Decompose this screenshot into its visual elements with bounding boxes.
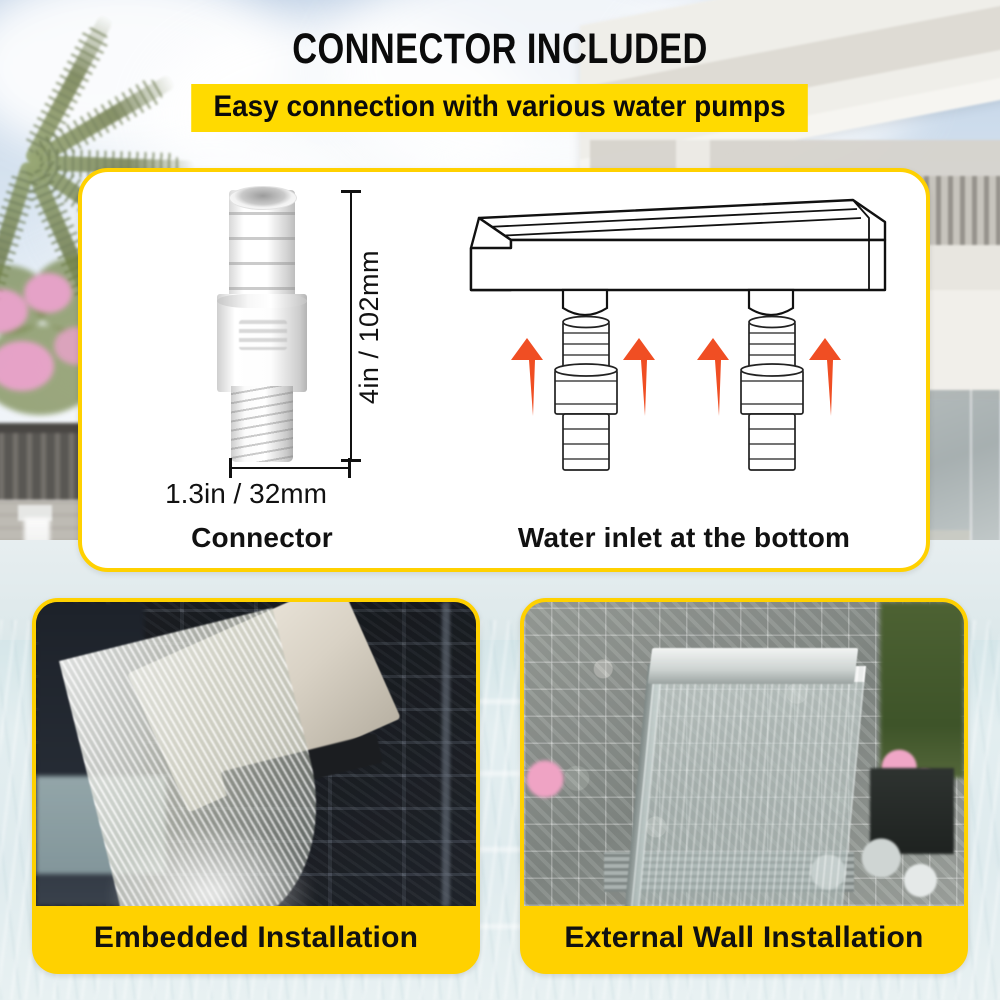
width-dimension-line	[229, 467, 351, 469]
height-dimension-label: 4in / 102mm	[354, 250, 385, 404]
embedded-installation-photo	[36, 602, 476, 906]
card-embedded-installation: Embedded Installation	[32, 598, 480, 974]
connector-right	[741, 317, 803, 471]
width-dimension-label: 1.3in / 32mm	[82, 478, 410, 510]
spillway-body	[471, 240, 885, 290]
connector-opening	[229, 186, 297, 210]
card-caption-external: External Wall Installation	[524, 906, 964, 970]
connector-diagram-section: 4in / 102mm 1.3in / 32mm Connector	[82, 172, 442, 568]
flow-arrow	[623, 338, 655, 416]
height-dimension-line	[350, 190, 352, 462]
flow-arrow	[697, 338, 729, 416]
feature-panel: 4in / 102mm 1.3in / 32mm Connector	[78, 168, 930, 572]
header: CONNECTOR INCLUDED Easy connection with …	[0, 0, 1000, 132]
installation-cards: Embedded Installation External Wall Inst…	[0, 598, 1000, 968]
page-title: CONNECTOR INCLUDED	[100, 28, 900, 71]
card-caption-embedded: Embedded Installation	[36, 906, 476, 970]
subtitle-banner: Easy connection with various water pumps	[192, 84, 809, 132]
threaded-end	[231, 386, 293, 462]
connector-illustration	[203, 190, 321, 462]
connector-caption: Connector	[82, 522, 442, 554]
flow-arrow	[511, 338, 543, 416]
flow-arrow	[809, 338, 841, 416]
molded-marking	[239, 320, 287, 350]
water-sheet	[630, 666, 866, 906]
height-dimension-label-wrap: 4in / 102mm	[354, 192, 385, 462]
water-inlet-caption: Water inlet at the bottom	[442, 522, 926, 554]
outlet-stub-right	[749, 290, 793, 315]
card-external-wall-installation: External Wall Installation	[520, 598, 968, 974]
spillway-blade	[648, 648, 858, 684]
water-inlet-diagram-section: Water inlet at the bottom	[442, 172, 926, 568]
connector-left	[555, 317, 617, 471]
spillway-line-art	[442, 178, 926, 478]
collar-lip	[217, 294, 307, 308]
external-wall-installation-photo	[524, 602, 964, 906]
outlet-stub-left	[563, 290, 607, 315]
